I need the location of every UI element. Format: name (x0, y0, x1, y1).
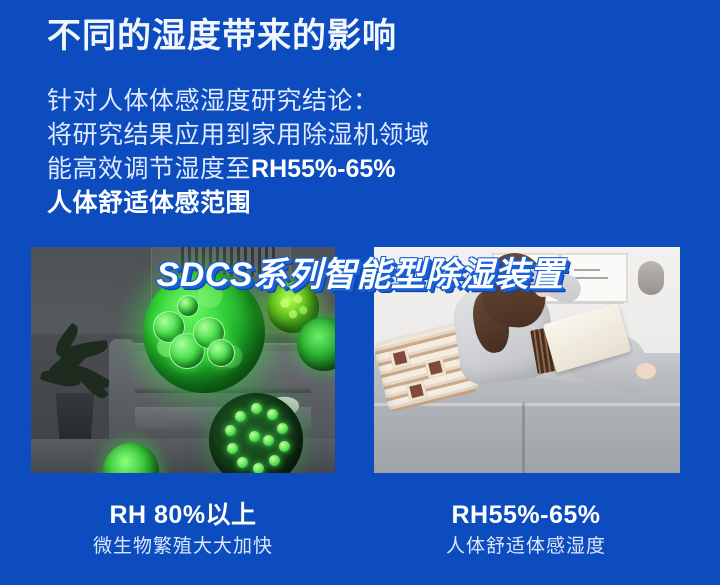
caption-comfort-humidity: RH55%-65% 人体舒适体感湿度 (374, 500, 678, 561)
poster-root: 不同的湿度带来的影响 针对人体体感湿度研究结论： 将研究结果应用到家用除湿机领域… (0, 0, 720, 585)
description-line-3-prefix: 能高效调节湿度至 (47, 155, 251, 183)
caption-high-humidity-subtitle: 微生物繁殖大大加快 (31, 533, 335, 561)
product-title-overlay: SDCS系列智能型除湿装置 (96, 256, 624, 295)
woman-foot (636, 363, 656, 379)
description-line-2: 将研究结果应用到家用除湿机领域 (47, 118, 607, 152)
description-line-3-emphasis: RH55%-65% (251, 155, 396, 183)
description-line-1: 针对人体体感湿度研究结论： (47, 84, 607, 118)
caption-comfort-humidity-subtitle: 人体舒适体感湿度 (374, 533, 678, 561)
description-block: 针对人体体感湿度研究结论： 将研究结果应用到家用除湿机领域 能高效调节湿度至RH… (47, 84, 607, 220)
description-line-3: 能高效调节湿度至RH55%-65% (47, 152, 607, 186)
caption-high-humidity-title: RH 80%以上 (31, 500, 335, 530)
caption-high-humidity: RH 80%以上 微生物繁殖大大加快 (31, 500, 335, 561)
caption-comfort-humidity-title: RH55%-65% (374, 500, 678, 530)
description-line-4: 人体舒适体感范围 (47, 186, 607, 220)
page-title: 不同的湿度带来的影响 (47, 16, 397, 57)
dark-sofa-arm-left (109, 339, 135, 451)
